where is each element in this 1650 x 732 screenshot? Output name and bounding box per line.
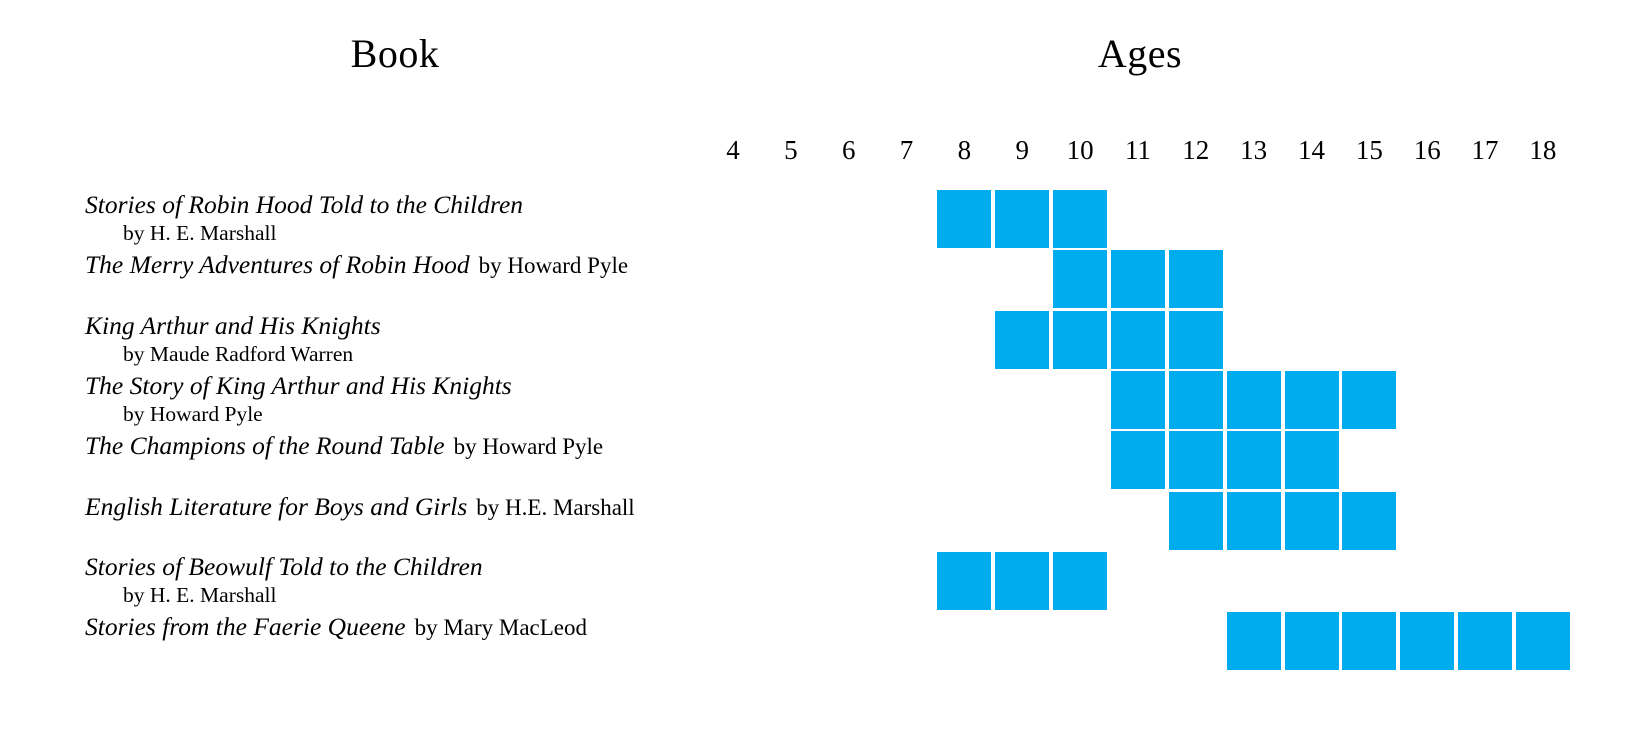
age-range-bars <box>0 190 1650 248</box>
age-cell-12 <box>1169 311 1223 369</box>
age-cell-15 <box>1342 612 1396 670</box>
age-range-bars <box>0 552 1650 610</box>
age-tick-11: 11 <box>1109 133 1167 167</box>
age-cell-15 <box>1342 492 1396 550</box>
age-cell-16 <box>1400 612 1454 670</box>
age-cell-9 <box>995 190 1049 248</box>
age-cell-13 <box>1227 612 1281 670</box>
age-cell-14 <box>1285 492 1339 550</box>
age-tick-7: 7 <box>878 133 936 167</box>
age-range-bars <box>0 612 1650 670</box>
age-cell-10 <box>1053 311 1107 369</box>
age-axis: 456789101112131415161718 <box>0 133 1650 173</box>
age-cell-11 <box>1111 371 1165 429</box>
age-cell-10 <box>1053 552 1107 610</box>
book-row: Stories of Beowulf Told to the Childrenb… <box>0 552 1650 610</box>
age-cell-13 <box>1227 431 1281 489</box>
age-cell-10 <box>1053 190 1107 248</box>
age-cell-10 <box>1053 250 1107 308</box>
age-range-bars <box>0 492 1650 550</box>
book-row: Stories of Robin Hood Told to the Childr… <box>0 190 1650 248</box>
age-cell-12 <box>1169 371 1223 429</box>
age-cell-8 <box>937 552 991 610</box>
book-row: The Merry Adventures of Robin Hoodby How… <box>0 250 1650 308</box>
age-tick-16: 16 <box>1398 133 1456 167</box>
age-cell-17 <box>1458 612 1512 670</box>
age-tick-4: 4 <box>704 133 762 167</box>
age-tick-10: 10 <box>1051 133 1109 167</box>
age-cell-8 <box>937 190 991 248</box>
age-cell-12 <box>1169 492 1223 550</box>
age-tick-13: 13 <box>1225 133 1283 167</box>
age-cell-15 <box>1342 371 1396 429</box>
age-tick-12: 12 <box>1167 133 1225 167</box>
age-range-bars <box>0 311 1650 369</box>
age-cell-13 <box>1227 492 1281 550</box>
age-tick-18: 18 <box>1514 133 1572 167</box>
age-tick-5: 5 <box>762 133 820 167</box>
age-cell-12 <box>1169 431 1223 489</box>
age-cell-9 <box>995 552 1049 610</box>
book-row: Stories from the Faerie Queeneby Mary Ma… <box>0 612 1650 670</box>
age-cell-14 <box>1285 612 1339 670</box>
chart-headers: Book Ages <box>0 0 1650 110</box>
age-range-bars <box>0 371 1650 429</box>
book-row: King Arthur and His Knightsby Maude Radf… <box>0 311 1650 369</box>
book-column-header: Book <box>0 30 790 77</box>
age-cell-11 <box>1111 431 1165 489</box>
book-row: English Literature for Boys and Girlsby … <box>0 492 1650 550</box>
ages-column-header: Ages <box>700 30 1580 77</box>
age-cell-14 <box>1285 431 1339 489</box>
age-tick-9: 9 <box>993 133 1051 167</box>
age-cell-18 <box>1516 612 1570 670</box>
age-tick-14: 14 <box>1283 133 1341 167</box>
age-tick-6: 6 <box>820 133 878 167</box>
age-cell-11 <box>1111 311 1165 369</box>
age-tick-17: 17 <box>1456 133 1514 167</box>
age-cell-9 <box>995 311 1049 369</box>
book-row: The Champions of the Round Tableby Howar… <box>0 431 1650 489</box>
age-cell-11 <box>1111 250 1165 308</box>
age-range-bars <box>0 250 1650 308</box>
age-tick-15: 15 <box>1340 133 1398 167</box>
age-cell-12 <box>1169 250 1223 308</box>
book-age-range-rows: Stories of Robin Hood Told to the Childr… <box>0 190 1650 670</box>
age-cell-13 <box>1227 371 1281 429</box>
age-tick-8: 8 <box>935 133 993 167</box>
age-range-bars <box>0 431 1650 489</box>
book-row: The Story of King Arthur and His Knights… <box>0 371 1650 429</box>
age-cell-14 <box>1285 371 1339 429</box>
